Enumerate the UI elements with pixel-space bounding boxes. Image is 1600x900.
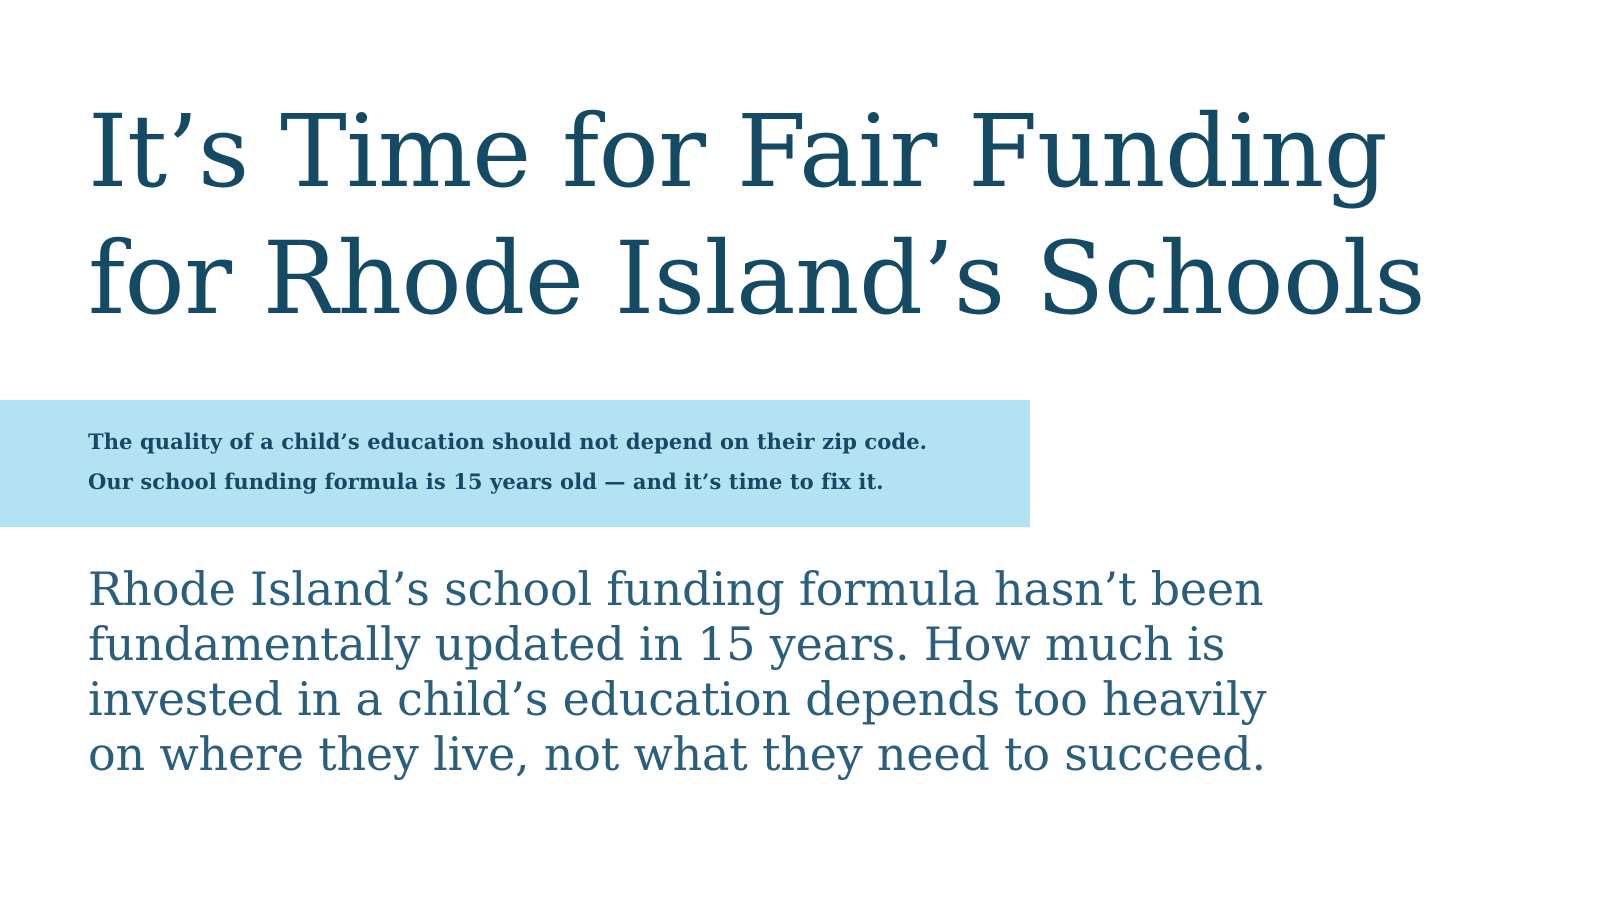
callout-banner: The quality of a child’s education shoul… (0, 400, 1030, 527)
article-page: It’s Time for Fair Funding for Rhode Isl… (0, 0, 1600, 900)
body-paragraph: Rhode Island’s school funding formula ha… (88, 562, 1333, 782)
callout-line-1: The quality of a child’s education shoul… (88, 422, 990, 462)
page-title: It’s Time for Fair Funding for Rhode Isl… (88, 88, 1508, 342)
callout-line-2: Our school funding formula is 15 years o… (88, 462, 990, 502)
